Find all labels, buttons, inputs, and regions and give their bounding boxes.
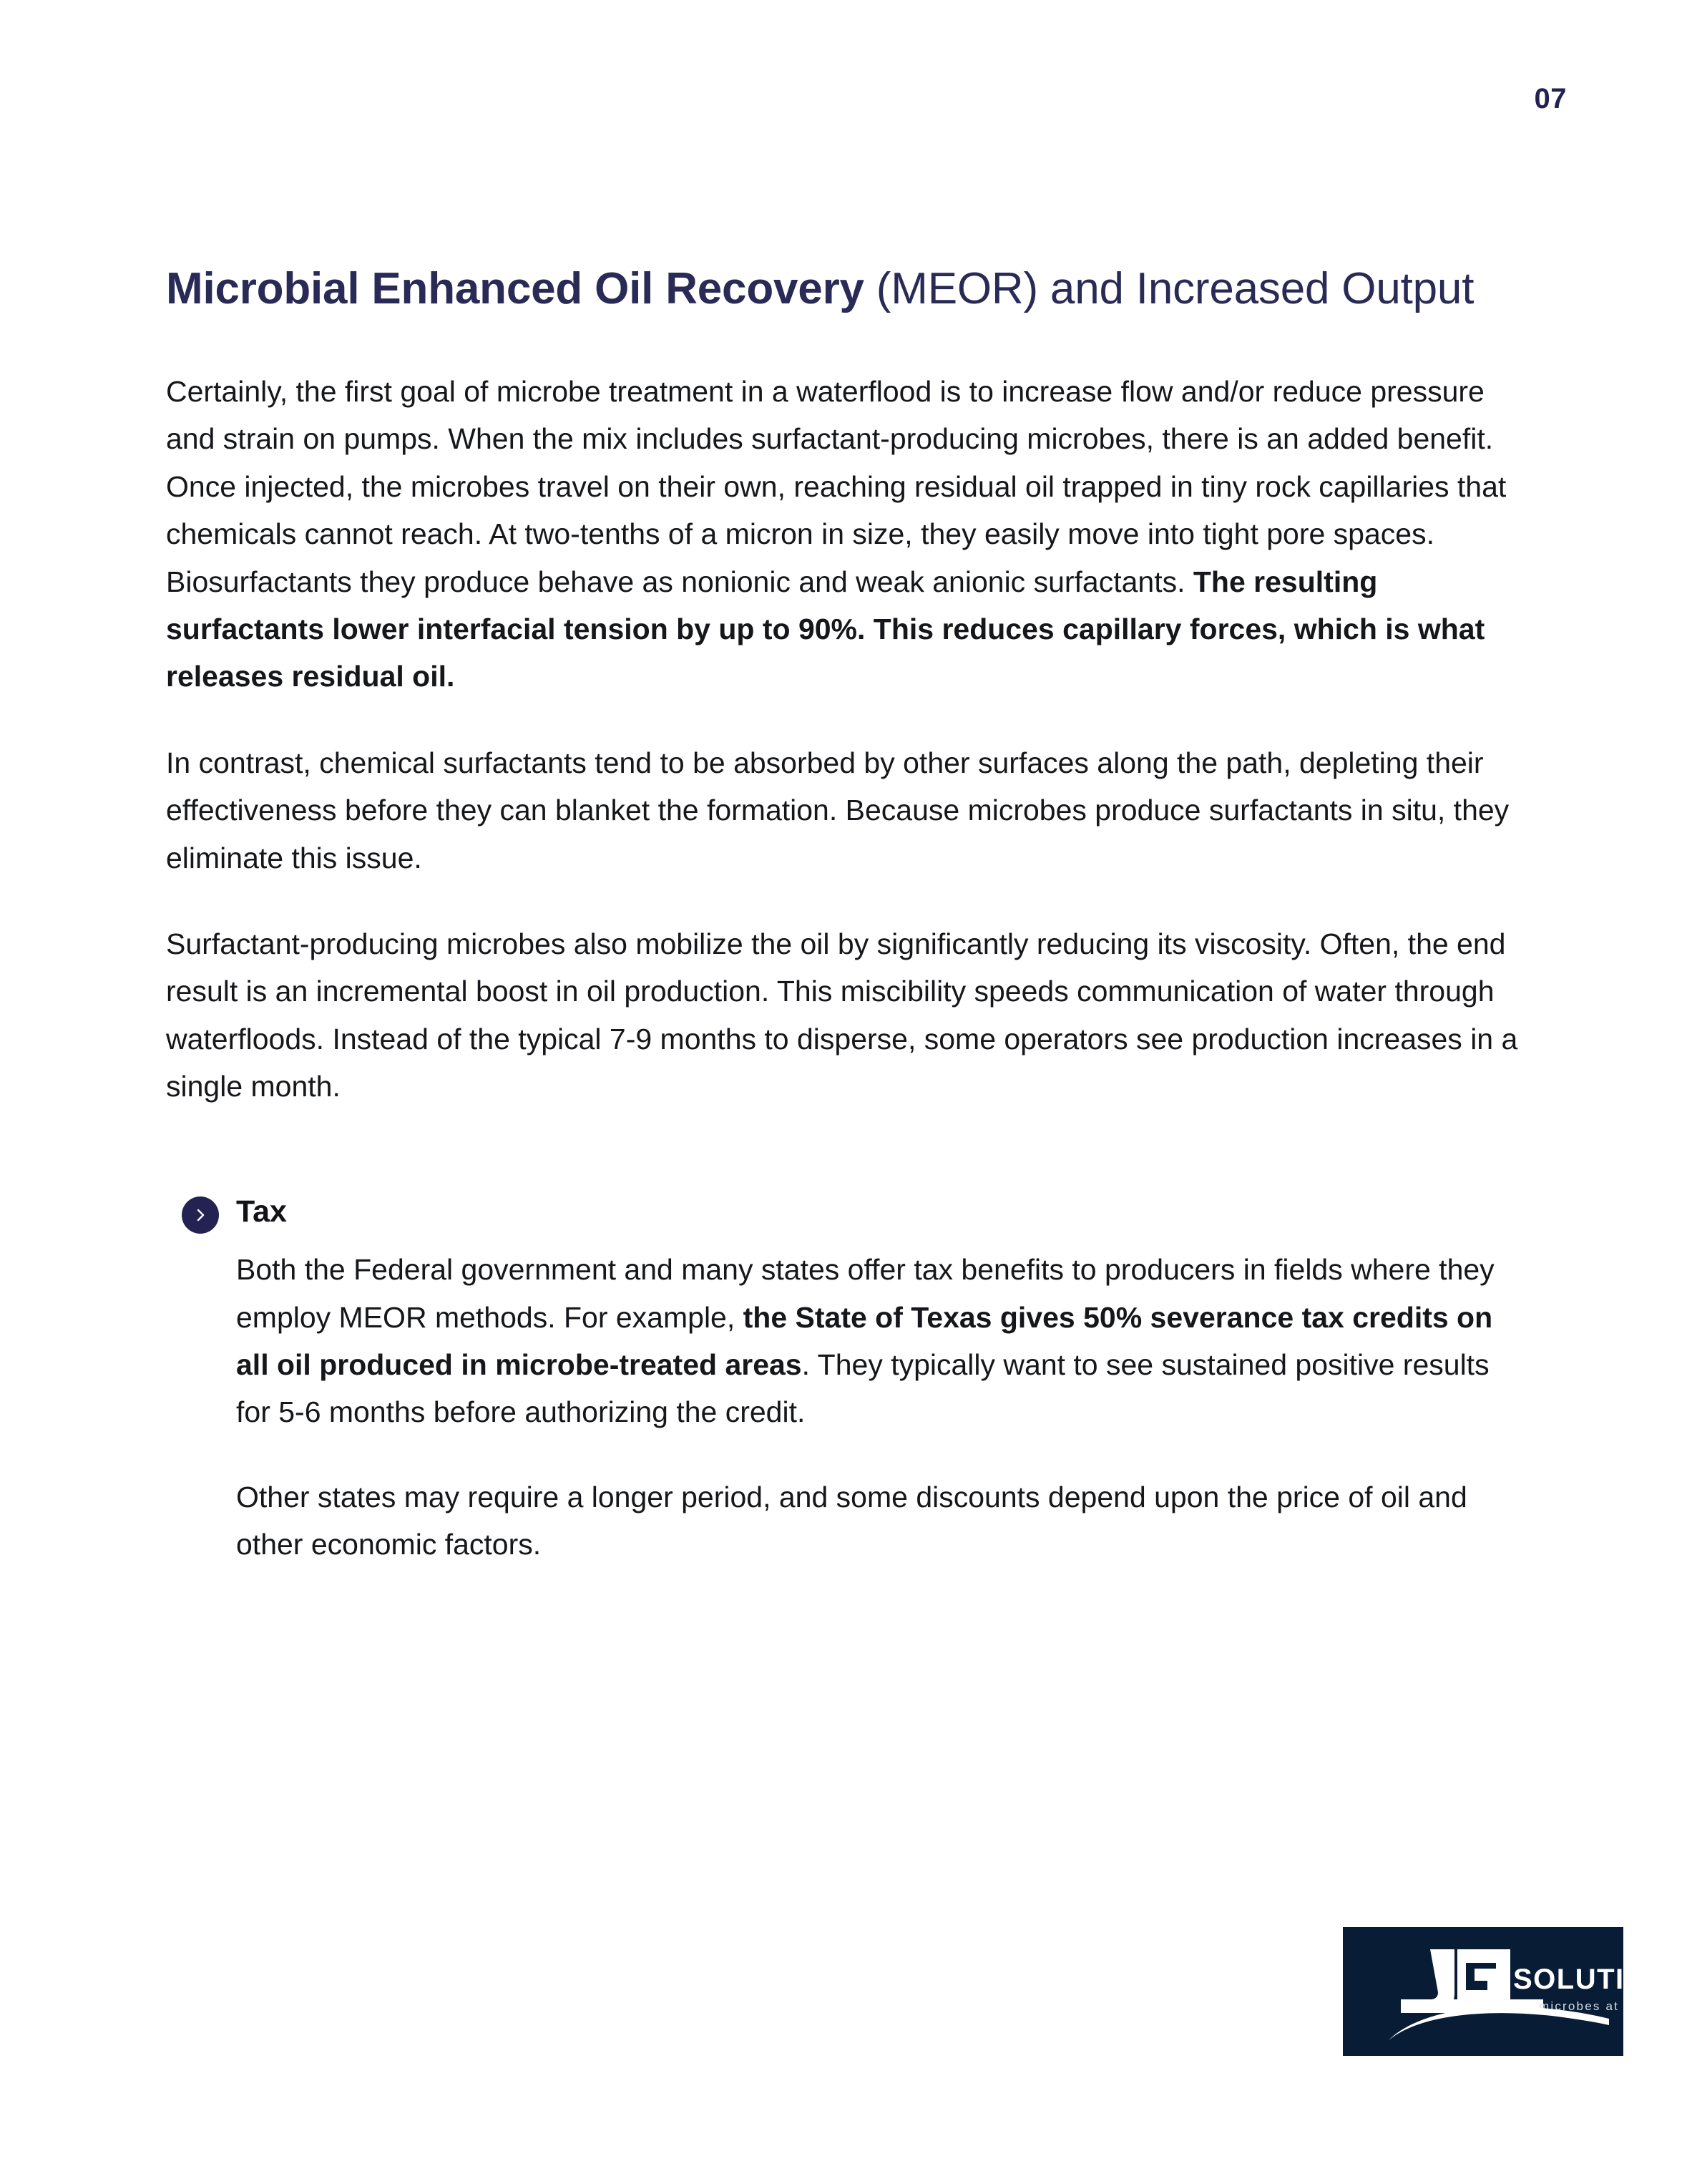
page-number: 07 [1535, 84, 1568, 113]
paragraph-1: Certainly, the first goal of microbe tre… [166, 368, 1525, 701]
bullet-title: Tax [236, 1194, 287, 1231]
paragraph-3: Surfactant-producing microbes also mobil… [166, 920, 1525, 1111]
logo-artwork: SOLUTIONS microbes at work [1343, 1927, 1623, 2056]
chevron-right-icon [182, 1196, 219, 1234]
content-column: Microbial Enhanced Oil Recovery (MEOR) a… [166, 263, 1525, 1569]
page-title-strong: Microbial Enhanced Oil Recovery [166, 264, 864, 313]
paragraph-2: In contrast, chemical surfactants tend t… [166, 739, 1525, 882]
bullet-paragraph-1: Both the Federal government and many sta… [236, 1246, 1525, 1436]
logo-solutions-text: SOLUTIONS [1513, 1964, 1623, 1995]
page-title: Microbial Enhanced Oil Recovery (MEOR) a… [166, 263, 1525, 315]
bullet-header: Tax [236, 1194, 1525, 1231]
company-logo: SOLUTIONS microbes at work [1343, 1927, 1623, 2056]
bullet-body: Both the Federal government and many sta… [236, 1246, 1525, 1568]
page-title-rest: (MEOR) and Increased Output [864, 264, 1474, 313]
bullet-paragraph-2: Other states may require a longer period… [236, 1473, 1525, 1569]
document-page: 07 Microbial Enhanced Oil Recovery (MEOR… [0, 0, 1687, 2184]
bullet-section-tax: Tax Both the Federal government and many… [166, 1194, 1525, 1569]
